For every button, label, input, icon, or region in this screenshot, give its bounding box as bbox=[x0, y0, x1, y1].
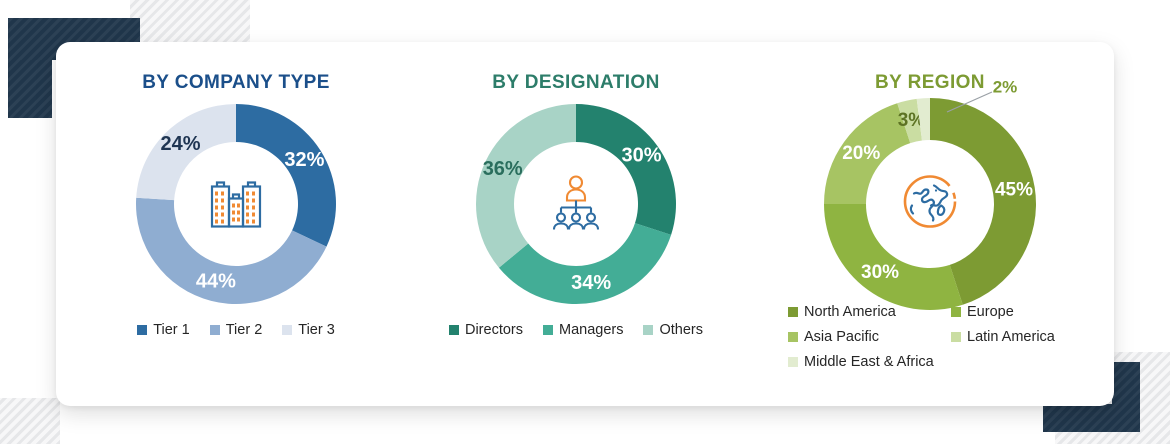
globe-icon bbox=[894, 166, 966, 243]
legend-label: Others bbox=[659, 322, 703, 338]
legend-swatch-icon bbox=[449, 325, 459, 335]
legend-company-type: Tier 1Tier 2Tier 3 bbox=[66, 322, 406, 338]
legend-swatch-icon bbox=[543, 325, 553, 335]
slice-label: 45% bbox=[995, 180, 1033, 201]
legend-label: Europe bbox=[967, 304, 1014, 320]
org-chart-icon bbox=[541, 167, 611, 242]
legend-swatch-icon bbox=[282, 325, 292, 335]
slice-label: 34% bbox=[571, 272, 611, 294]
legend-item[interactable]: Asia Pacific bbox=[788, 329, 951, 345]
chart-panel-designation: BY DESIGNATION 30%34%36% bbox=[406, 42, 746, 406]
legend-label: Tier 2 bbox=[226, 322, 263, 338]
legend-item[interactable]: North America bbox=[788, 304, 951, 320]
donut-chart-designation: 30%34%36% bbox=[476, 104, 676, 304]
infographic-stage: BY COMPANY TYPE 32%44%24% bbox=[0, 0, 1170, 444]
legend-item[interactable]: Tier 3 bbox=[282, 322, 335, 338]
legend-designation: DirectorsManagersOthers bbox=[406, 322, 746, 338]
slice-label: 32% bbox=[284, 149, 324, 171]
chart-panel-region: BY REGION 45%30%20%3% 2% bbox=[746, 42, 1114, 406]
legend-label: Latin America bbox=[967, 329, 1055, 345]
slice-label: 36% bbox=[483, 158, 523, 180]
chart-title-region: BY REGION bbox=[746, 72, 1114, 94]
legend-item[interactable]: Europe bbox=[951, 304, 1114, 320]
callout-label-2-percent: 2% bbox=[993, 77, 1018, 96]
slice-label: 20% bbox=[842, 143, 880, 164]
chart-panel-company-type: BY COMPANY TYPE 32%44%24% bbox=[66, 42, 406, 406]
legend-swatch-icon bbox=[951, 307, 961, 317]
chart-title-designation: BY DESIGNATION bbox=[406, 72, 746, 94]
legend-region: North AmericaEurope Asia PacificLatin Am… bbox=[746, 304, 1114, 379]
slice-label: 44% bbox=[196, 271, 236, 293]
legend-swatch-icon bbox=[210, 325, 220, 335]
legend-swatch-icon bbox=[643, 325, 653, 335]
legend-item[interactable]: Others bbox=[643, 322, 703, 338]
legend-swatch-icon bbox=[788, 357, 798, 367]
legend-item[interactable]: Tier 1 bbox=[137, 322, 190, 338]
legend-label: Tier 3 bbox=[298, 322, 335, 338]
legend-item[interactable]: Tier 2 bbox=[210, 322, 263, 338]
legend-item[interactable]: Managers bbox=[543, 322, 623, 338]
buildings-icon bbox=[199, 165, 273, 244]
legend-swatch-icon bbox=[951, 332, 961, 342]
donut-chart-region: 45%30%20%3% 2% bbox=[824, 98, 1036, 310]
content-card: BY COMPANY TYPE 32%44%24% bbox=[56, 42, 1114, 406]
legend-item[interactable]: Directors bbox=[449, 322, 523, 338]
legend-swatch-icon bbox=[788, 307, 798, 317]
chart-title-company-type: BY COMPANY TYPE bbox=[66, 72, 406, 94]
legend-label: North America bbox=[804, 304, 896, 320]
legend-swatch-icon bbox=[788, 332, 798, 342]
legend-label: Middle East & Africa bbox=[804, 354, 934, 370]
decorative-stripe-bottom-left bbox=[0, 398, 60, 444]
donut-chart-company-type: 32%44%24% bbox=[136, 104, 336, 304]
legend-label: Asia Pacific bbox=[804, 329, 879, 345]
legend-swatch-icon bbox=[137, 325, 147, 335]
legend-item[interactable]: Latin America bbox=[951, 329, 1114, 345]
legend-label: Tier 1 bbox=[153, 322, 190, 338]
legend-item[interactable]: Middle East & Africa bbox=[788, 354, 958, 370]
legend-label: Directors bbox=[465, 322, 523, 338]
decorative-navy-block-bottom-right-vertical bbox=[1112, 362, 1140, 432]
slice-label: 30% bbox=[622, 145, 662, 167]
slice-label: 24% bbox=[161, 133, 201, 155]
legend-label: Managers bbox=[559, 322, 623, 338]
slice-label: 30% bbox=[861, 262, 899, 283]
